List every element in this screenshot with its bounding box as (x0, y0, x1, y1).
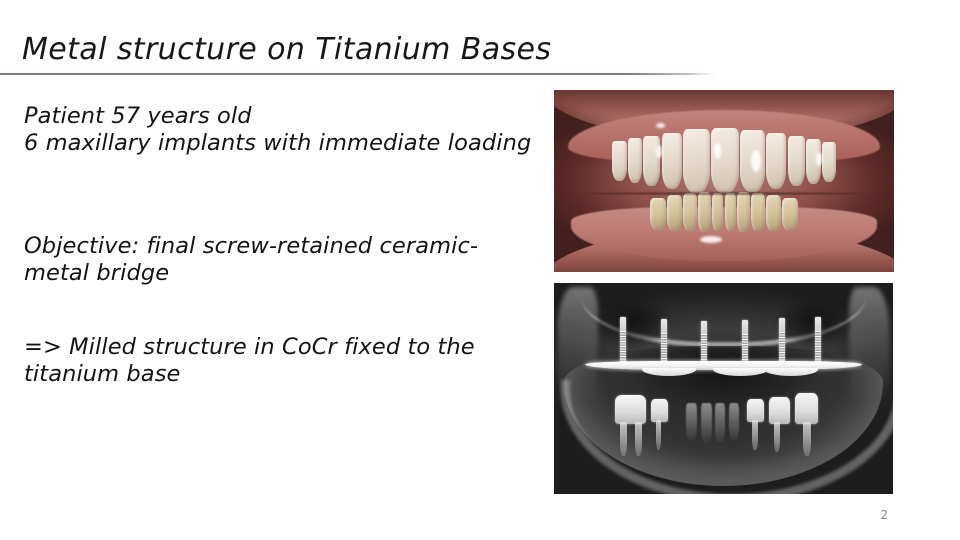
implant-fixture (779, 318, 785, 365)
implant-fixture (701, 321, 707, 365)
occlusal-line (588, 192, 860, 195)
photo-highlight (656, 145, 662, 158)
natural-lower-tooth (686, 403, 697, 441)
title-divider (0, 73, 716, 75)
implant-fixture (815, 317, 821, 366)
lower-crown (769, 397, 789, 424)
paragraph-objective-text: Objective: final screw-retained ceramic-… (24, 233, 534, 287)
photo-highlight (816, 152, 822, 166)
natural-lower-tooth (701, 403, 711, 443)
page-title: Metal structure on Titanium Bases (22, 33, 551, 67)
lower-dental-arch (591, 190, 856, 243)
implant-fixture (620, 317, 626, 366)
page-number: 2 (880, 508, 888, 522)
lower-root (635, 422, 642, 456)
implant-fixture (661, 319, 667, 365)
slide: Metal structure on Titanium Bases Patien… (0, 0, 960, 540)
lower-crown (651, 399, 668, 422)
paragraph-line-implants: 6 maxillary implants with immediate load… (24, 130, 534, 157)
upper-dental-arch (578, 128, 870, 194)
paragraph-patient-info: Patient 57 years old 6 maxillary implant… (24, 103, 534, 157)
implant-fixture (742, 320, 748, 365)
lower-root (656, 420, 661, 450)
left-maxillary-sinus (598, 300, 669, 344)
photo-highlight (714, 143, 721, 159)
paragraph-objective: Objective: final screw-retained ceramic-… (24, 233, 534, 287)
lower-root (620, 422, 627, 456)
lower-root (803, 422, 810, 456)
natural-lower-tooth (729, 403, 740, 441)
paragraph-conclusion-text: => Milled structure in CoCr fixed to the… (24, 334, 534, 388)
paragraph-line-patient-age: Patient 57 years old (24, 103, 534, 130)
clinical-intraoral-photo (554, 90, 894, 272)
paragraph-conclusion: => Milled structure in CoCr fixed to the… (24, 334, 534, 388)
photo-highlight (700, 236, 722, 243)
right-maxillary-sinus (778, 300, 849, 344)
natural-lower-tooth (715, 403, 725, 443)
lower-root (752, 420, 757, 450)
panoramic-radiograph (554, 283, 893, 494)
photo-highlight (656, 123, 665, 128)
lower-crown (795, 393, 819, 425)
lower-crown (615, 395, 646, 425)
lower-crown (747, 399, 764, 422)
